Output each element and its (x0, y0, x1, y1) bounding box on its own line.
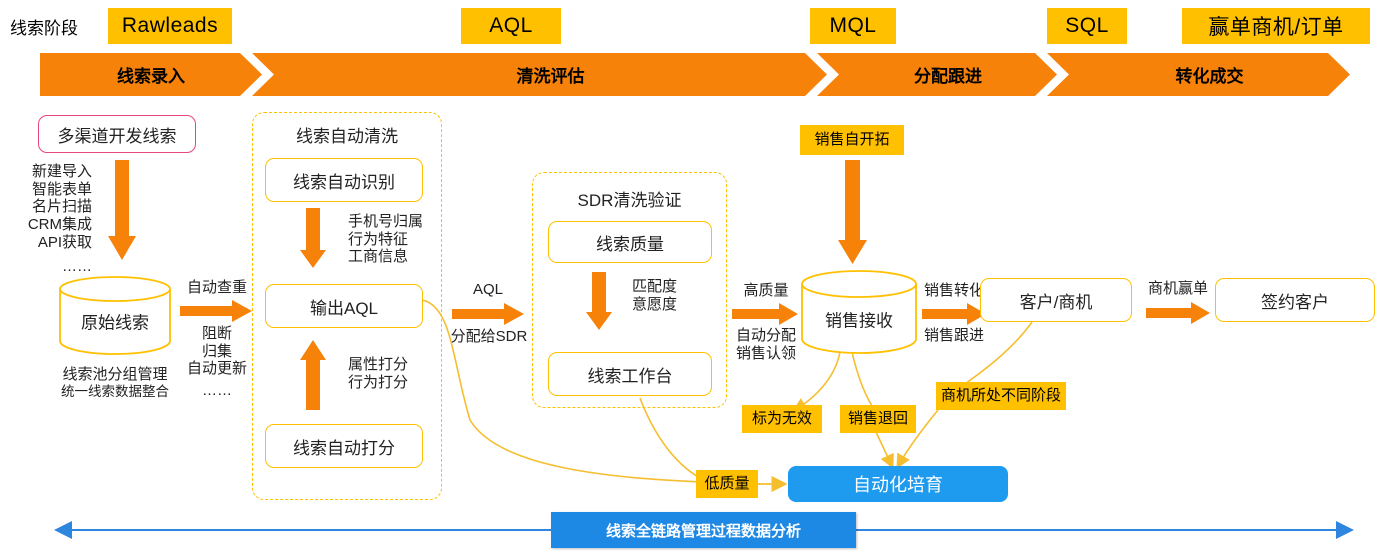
stage-chip-mql: MQL (810, 8, 896, 44)
dedupe-title: 自动查重 (178, 279, 256, 297)
band-label-clean: 清洗评估 (274, 53, 827, 96)
stage-band-group: 线索录入 清洗评估 分配跟进 转化成交 (40, 53, 1350, 96)
stage-chip-sql: SQL (1047, 8, 1127, 44)
group-sdr-verify-title: SDR清洗验证 (532, 186, 727, 211)
node-sales-return[interactable]: 销售退回 (840, 405, 916, 433)
arrow-dedupe-right (180, 300, 254, 324)
dedupe-detail: 阻断 归集 自动更新 (178, 325, 256, 378)
arrow-sdr-down (586, 272, 614, 334)
aql-transfer-top-label: AQL (452, 281, 524, 299)
intake-ellipsis-text: …… (4, 258, 92, 276)
score-features-text: 属性打分 行为打分 (348, 356, 444, 391)
bottom-analysis-chip: 线索全链路管理过程数据分析 (551, 512, 856, 548)
band-label-convert: 转化成交 (1069, 53, 1350, 96)
stage-row-label: 线索阶段 (10, 20, 78, 37)
sdr-features-text: 匹配度 意愿度 (632, 278, 718, 313)
aql-transfer-bottom-label: 分配给SDR (446, 328, 532, 346)
arrow-score-up (300, 340, 328, 410)
dedupe-ellipsis: …… (178, 382, 256, 400)
node-customer-opportunity[interactable]: 客户/商机 (980, 278, 1132, 322)
node-auto-score[interactable]: 线索自动打分 (265, 424, 423, 468)
node-multi-channel-leads[interactable]: 多渠道开发线索 (38, 115, 196, 153)
node-self-develop[interactable]: 销售自开拓 (800, 125, 904, 155)
node-mark-invalid[interactable]: 标为无效 (742, 405, 822, 433)
node-signed-customer[interactable]: 签约客户 (1215, 278, 1375, 322)
diagram-canvas: 线索阶段 Rawleads AQL MQL SQL 赢单商机/订单 线索录入 清… (0, 0, 1389, 555)
opp-won-label: 商机赢单 (1138, 280, 1218, 298)
node-output-aql[interactable]: 输出AQL (265, 284, 423, 328)
group-auto-clean-title: 线索自动清洗 (252, 122, 442, 147)
node-sales-receive-label: 销售接收 (800, 306, 918, 331)
clean-features-text: 手机号归属 行为特征 工商信息 (348, 213, 444, 266)
arrow-intake-down (108, 160, 138, 268)
arrow-self-develop-down (838, 160, 868, 270)
node-lead-workbench[interactable]: 线索工作台 (548, 352, 712, 396)
node-auto-recognize[interactable]: 线索自动识别 (265, 158, 423, 202)
arrow-high-quality (732, 303, 800, 327)
node-opp-stages[interactable]: 商机所处不同阶段 (936, 382, 1066, 410)
arrow-sales-convert (922, 303, 988, 327)
arrow-clean-down (300, 208, 328, 272)
band-label-intake: 线索录入 (40, 53, 262, 96)
high-quality-top-label: 高质量 (728, 282, 804, 300)
stage-chip-rawleads: Rawleads (108, 8, 232, 44)
node-auto-nurture[interactable]: 自动化培育 (788, 466, 1008, 502)
sales-convert-bottom-label: 销售跟进 (912, 327, 996, 345)
pool-note-line1: 线索池分组管理 (40, 366, 190, 384)
node-sales-receive[interactable]: 销售接收 (800, 270, 918, 354)
band-label-assign: 分配跟进 (839, 53, 1057, 96)
arrow-opp-won (1146, 302, 1212, 326)
node-raw-leads-db[interactable]: 原始线索 (58, 276, 172, 354)
stage-chip-aql: AQL (461, 8, 561, 44)
stage-chip-won-order: 赢单商机/订单 (1182, 8, 1370, 44)
intake-sources-text: 新建导入 智能表单 名片扫描 CRM集成 API获取 (4, 163, 92, 251)
node-low-quality[interactable]: 低质量 (696, 470, 758, 498)
arrow-aql-to-sdr (452, 303, 526, 327)
pool-note-line2: 统一线索数据整合 (40, 384, 190, 400)
node-raw-leads-db-label: 原始线索 (58, 309, 172, 334)
node-lead-quality[interactable]: 线索质量 (548, 221, 712, 263)
high-quality-bottom-label: 自动分配 销售认领 (724, 327, 808, 362)
